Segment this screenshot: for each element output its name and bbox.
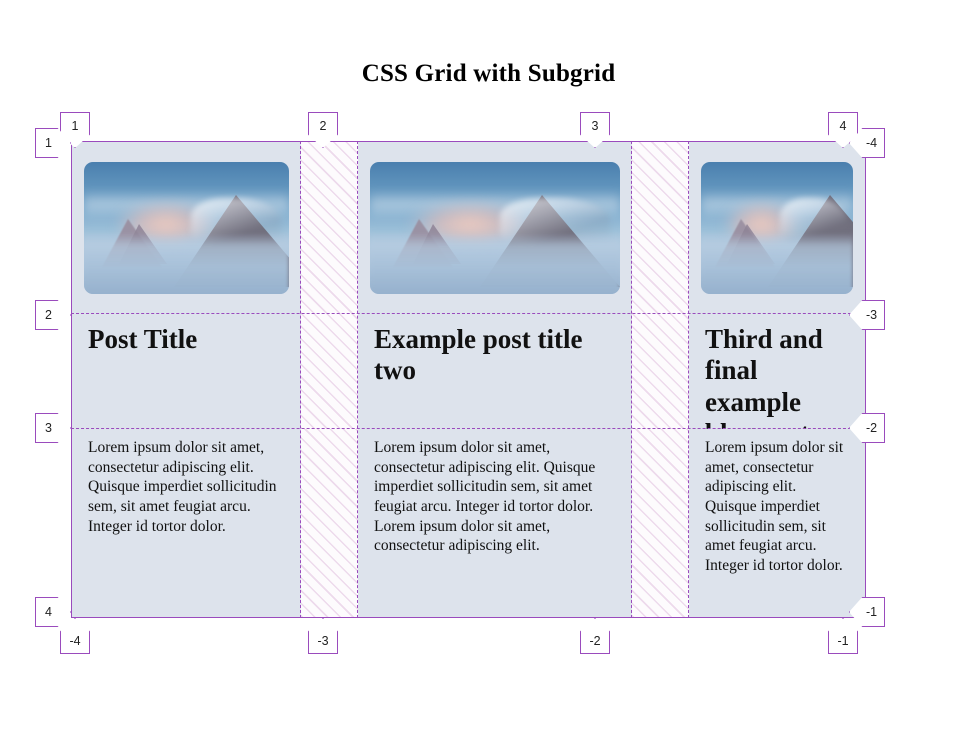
grid-line-badge-col-bottom-minus1[interactable]: -1 [828, 618, 858, 654]
grid-overlay-wrapper: Post Title Example post title two Third … [71, 141, 866, 618]
card-title-cell-3: Third and final example blog post title [689, 314, 865, 429]
fog-layer-icon [701, 233, 853, 294]
card-title-cell-2: Example post title two [358, 314, 632, 429]
grid-line-badge-row-left-2[interactable]: 2 [35, 300, 71, 330]
grid-line-badge-col-bottom-minus3[interactable]: -3 [308, 618, 338, 654]
page-title: CSS Grid with Subgrid [0, 60, 977, 88]
card-title: Example post title two [374, 314, 616, 387]
card-body-cell-2: Lorem ipsum dolor sit amet, consectetur … [358, 429, 632, 617]
card-title: Post Title [88, 314, 285, 355]
card-body-cell-3: Lorem ipsum dolor sit amet, consectetur … [689, 429, 865, 617]
grid-line-badge-col-bottom-minus4[interactable]: -4 [60, 618, 90, 654]
mountain-photo-3 [701, 162, 853, 294]
column-gap-2-row-3 [632, 429, 689, 617]
card-thumbnail-cell-3 [689, 142, 865, 314]
grid-line-badge-row-left-3[interactable]: 3 [35, 413, 71, 443]
card-thumbnail-cell-2 [358, 142, 632, 314]
grid-container: Post Title Example post title two Third … [71, 141, 866, 618]
card-title: Third and final example blog post title [705, 314, 849, 429]
column-gap-2-row-2 [632, 314, 689, 429]
column-gap-1-row-3 [301, 429, 358, 617]
card-body-text: Lorem ipsum dolor sit amet, consectetur … [374, 429, 616, 556]
mountain-photo-2 [370, 162, 620, 294]
card-title-cell-1: Post Title [72, 314, 301, 429]
card-body-text: Lorem ipsum dolor sit amet, consectetur … [705, 429, 849, 576]
card-body-text: Lorem ipsum dolor sit amet, consectetur … [88, 429, 285, 536]
column-gap-1-row-1 [301, 142, 358, 314]
fog-layer-icon [84, 233, 289, 294]
card-thumbnail-cell-1 [72, 142, 301, 314]
column-gap-2-row-1 [632, 142, 689, 314]
fog-layer-icon [370, 233, 620, 294]
column-gap-1-row-2 [301, 314, 358, 429]
card-body-cell-1: Lorem ipsum dolor sit amet, consectetur … [72, 429, 301, 617]
mountain-photo-1 [84, 162, 289, 294]
grid-line-badge-col-bottom-minus2[interactable]: -2 [580, 618, 610, 654]
grid-line-badge-row-left-4[interactable]: 4 [35, 597, 71, 627]
